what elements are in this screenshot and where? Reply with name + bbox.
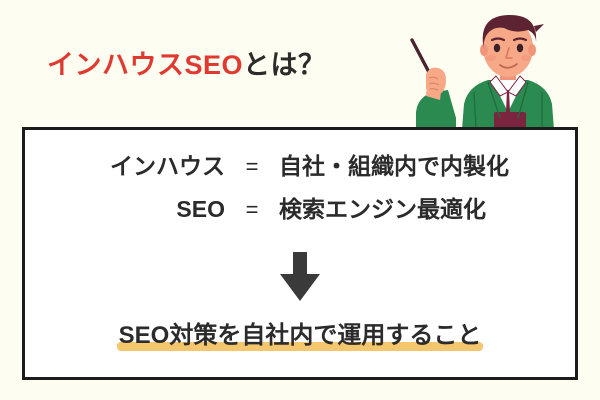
equation-definition: 自社・組織内で内製化 xyxy=(279,147,509,181)
equals-sign: = xyxy=(225,154,279,180)
page-title: インハウスSEOとは？ xyxy=(47,52,326,79)
conclusion-text: SEO対策を自社内で運用すること xyxy=(119,322,482,349)
page-title-highlight: インハウスSEO xyxy=(47,50,243,80)
equation-row: インハウス = 自社・組織内で内製化 xyxy=(25,147,575,190)
equation-row: SEO = 検索エンジン最適化 xyxy=(25,190,575,233)
infographic-canvas: インハウスSEOとは？ xyxy=(0,0,600,400)
man-with-pointer-illustration xyxy=(396,0,600,130)
definition-box: インハウス = 自社・組織内で内製化 SEO = 検索エンジン最適化 SEO対策… xyxy=(22,127,578,380)
equation-definition: 検索エンジン最適化 xyxy=(279,190,486,224)
equation-list: インハウス = 自社・組織内で内製化 SEO = 検索エンジン最適化 xyxy=(25,147,575,233)
down-arrow-icon xyxy=(278,252,322,307)
page-title-plain: とは？ xyxy=(243,50,326,80)
equals-sign: = xyxy=(225,197,279,223)
equation-term: SEO xyxy=(25,196,225,223)
conclusion: SEO対策を自社内で運用すること xyxy=(25,315,575,350)
equation-term: インハウス xyxy=(25,147,225,181)
